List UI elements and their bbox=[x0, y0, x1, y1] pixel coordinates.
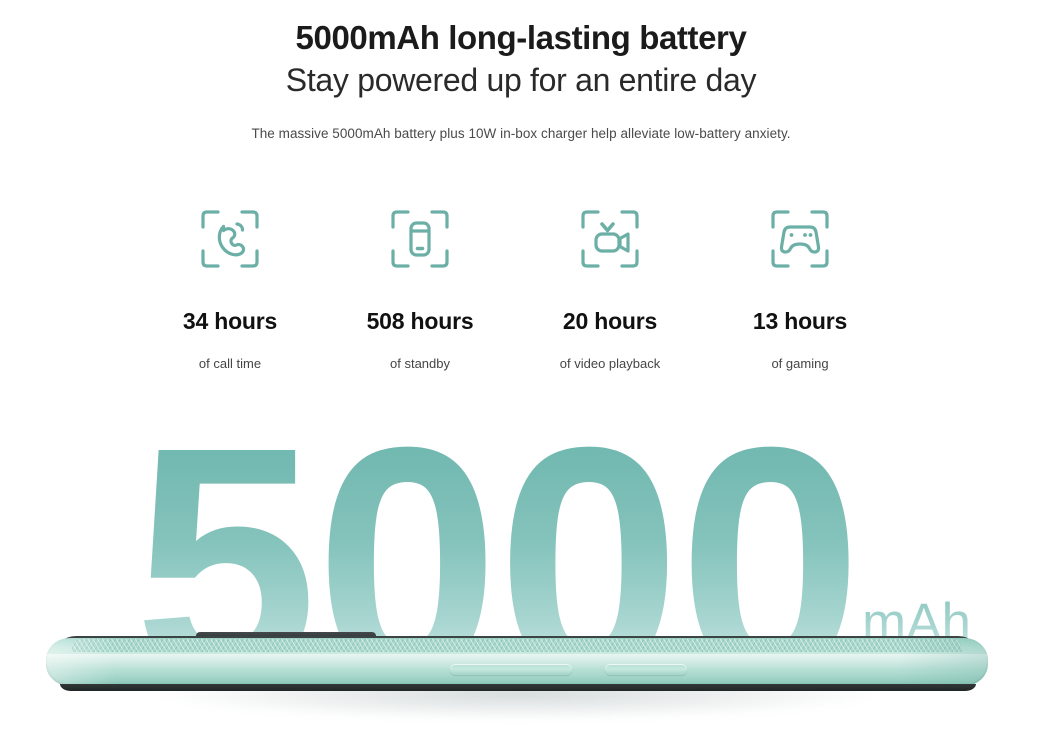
stat-standby: 508 hours of standby bbox=[325, 208, 515, 370]
page-subtitle: Stay powered up for an entire day bbox=[0, 58, 1042, 100]
video-camera-icon bbox=[515, 208, 705, 270]
page-title: 5000mAh long-lasting battery bbox=[0, 0, 1042, 58]
phone-right-endcap bbox=[898, 638, 988, 686]
stat-label: of standby bbox=[325, 357, 515, 370]
phone-call-icon bbox=[135, 208, 325, 270]
phone-bottom-lip bbox=[60, 684, 976, 691]
stat-label: of video playback bbox=[515, 357, 705, 370]
header: 5000mAh long-lasting battery Stay powere… bbox=[0, 0, 1042, 141]
stat-value: 20 hours bbox=[515, 310, 705, 333]
gamepad-icon bbox=[705, 208, 895, 270]
stat-value: 13 hours bbox=[705, 310, 895, 333]
phone-body bbox=[46, 638, 988, 686]
stat-label: of gaming bbox=[705, 357, 895, 370]
page-description: The massive 5000mAh battery plus 10W in-… bbox=[0, 100, 1042, 141]
stat-call-time: 34 hours of call time bbox=[135, 208, 325, 370]
battery-stats-row: 34 hours of call time 508 hours of stand… bbox=[135, 208, 895, 370]
phone-left-endcap bbox=[46, 638, 116, 686]
stat-gaming: 13 hours of gaming bbox=[705, 208, 895, 370]
phone-back-texture bbox=[72, 639, 962, 652]
stat-video-playback: 20 hours of video playback bbox=[515, 208, 705, 370]
phone-power-button bbox=[605, 664, 687, 675]
stat-label: of call time bbox=[135, 357, 325, 370]
stat-value: 508 hours bbox=[325, 310, 515, 333]
phone-device bbox=[46, 632, 988, 694]
smartphone-icon bbox=[325, 208, 515, 270]
phone-illustration bbox=[0, 619, 1042, 749]
phone-volume-button bbox=[450, 664, 572, 675]
stat-value: 34 hours bbox=[135, 310, 325, 333]
battery-feature-page: 5000mAh long-lasting battery Stay powere… bbox=[0, 0, 1042, 749]
